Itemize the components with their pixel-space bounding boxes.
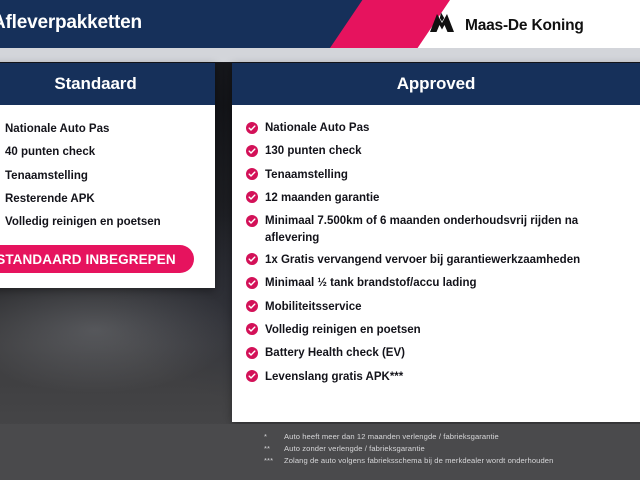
footnote-text: Zolang de auto volgens fabrieksschema bi…: [284, 456, 553, 465]
list-item: Volledig reinigen en poetsen: [246, 322, 640, 338]
feature-label: Volledig reinigen en poetsen: [5, 214, 161, 230]
list-item: Nationale Auto Pas: [0, 121, 215, 137]
check-circle-icon: [246, 215, 258, 227]
list-item: Nationale Auto Pas: [246, 120, 640, 136]
brand-name: Maas-De Koning: [465, 17, 584, 35]
list-item: 130 punten check: [246, 143, 640, 159]
footnote-3: *** Zolang de auto volgens fabrieksschem…: [258, 456, 553, 465]
list-item: 1x Gratis vervangend vervoer bij garanti…: [246, 252, 640, 268]
feature-label: 12 maanden garantie: [265, 190, 379, 206]
brand-logo: Maas-De Koning: [428, 12, 584, 39]
feature-label: 130 punten check: [265, 143, 362, 159]
footnote-1: * Auto heeft meer dan 12 maanden verleng…: [258, 432, 499, 441]
page-title: Afleverpakketten: [0, 12, 322, 34]
check-circle-icon: [246, 191, 258, 203]
footnote-marker: *: [258, 432, 284, 441]
check-circle-icon: [246, 277, 258, 289]
feature-label: 1x Gratis vervangend vervoer bij garanti…: [265, 252, 580, 268]
check-circle-icon: [246, 370, 258, 382]
header-divider: [0, 48, 640, 62]
maas-de-koning-m-mark-icon: [428, 12, 456, 39]
feature-label: Levenslang gratis APK***: [265, 369, 403, 385]
check-circle-icon: [246, 347, 258, 359]
list-item: Resterende APK: [0, 191, 215, 207]
footnote-text: Auto zonder verlengde / fabrieksgarantie: [284, 444, 425, 453]
check-circle-icon: [246, 122, 258, 134]
list-item: Minimaal 7.500km of 6 maanden onderhouds…: [246, 213, 640, 246]
check-circle-icon: [246, 145, 258, 157]
feature-label: Resterende APK: [5, 191, 95, 207]
check-circle-icon: [246, 323, 258, 335]
list-item: Tenaamstelling: [246, 167, 640, 183]
list-item: Tenaamstelling: [0, 168, 215, 184]
feature-label: Minimaal 7.500km of 6 maanden onderhouds…: [265, 213, 610, 246]
feature-label: 40 punten check: [5, 144, 95, 160]
feature-label: Nationale Auto Pas: [5, 121, 109, 137]
footnote-marker: **: [258, 444, 284, 453]
check-circle-icon: [246, 253, 258, 265]
approved-feature-list: Nationale Auto Pas 130 punten check Tena…: [232, 105, 640, 385]
list-item: Levenslang gratis APK***: [246, 369, 640, 385]
standaard-heading: Standaard: [0, 63, 215, 105]
footnotes-bar: * Auto heeft meer dan 12 maanden verleng…: [0, 424, 640, 480]
feature-label: Battery Health check (EV): [265, 345, 405, 361]
approved-heading: Approved: [232, 63, 640, 105]
check-circle-icon: [246, 300, 258, 312]
footnote-marker: ***: [258, 456, 284, 465]
list-item: Battery Health check (EV): [246, 345, 640, 361]
feature-label: Tenaamstelling: [5, 168, 88, 184]
list-item: Minimaal ½ tank brandstof/accu lading: [246, 275, 640, 291]
feature-label: Minimaal ½ tank brandstof/accu lading: [265, 275, 477, 291]
feature-label: Mobiliteitsservice: [265, 299, 362, 315]
list-item: Volledig reinigen en poetsen: [0, 214, 215, 230]
feature-label: Nationale Auto Pas: [265, 120, 369, 136]
standaard-included-badge: STANDAARD INBEGREPEN: [0, 245, 194, 273]
footnote-2: ** Auto zonder verlengde / fabrieksgaran…: [258, 444, 425, 453]
footnote-text: Auto heeft meer dan 12 maanden verlengde…: [284, 432, 499, 441]
page-header: Afleverpakketten Maas-De Koning: [0, 0, 640, 48]
standaard-feature-list: Nationale Auto Pas 40 punten check Tenaa…: [0, 105, 215, 231]
list-item: Mobiliteitsservice: [246, 299, 640, 315]
package-card-approved: Approved Nationale Auto Pas 130 punten c…: [232, 63, 640, 422]
list-item: 12 maanden garantie: [246, 190, 640, 206]
feature-label: Tenaamstelling: [265, 167, 348, 183]
list-item: 40 punten check: [0, 144, 215, 160]
check-circle-icon: [246, 168, 258, 180]
feature-label: Volledig reinigen en poetsen: [265, 322, 421, 338]
